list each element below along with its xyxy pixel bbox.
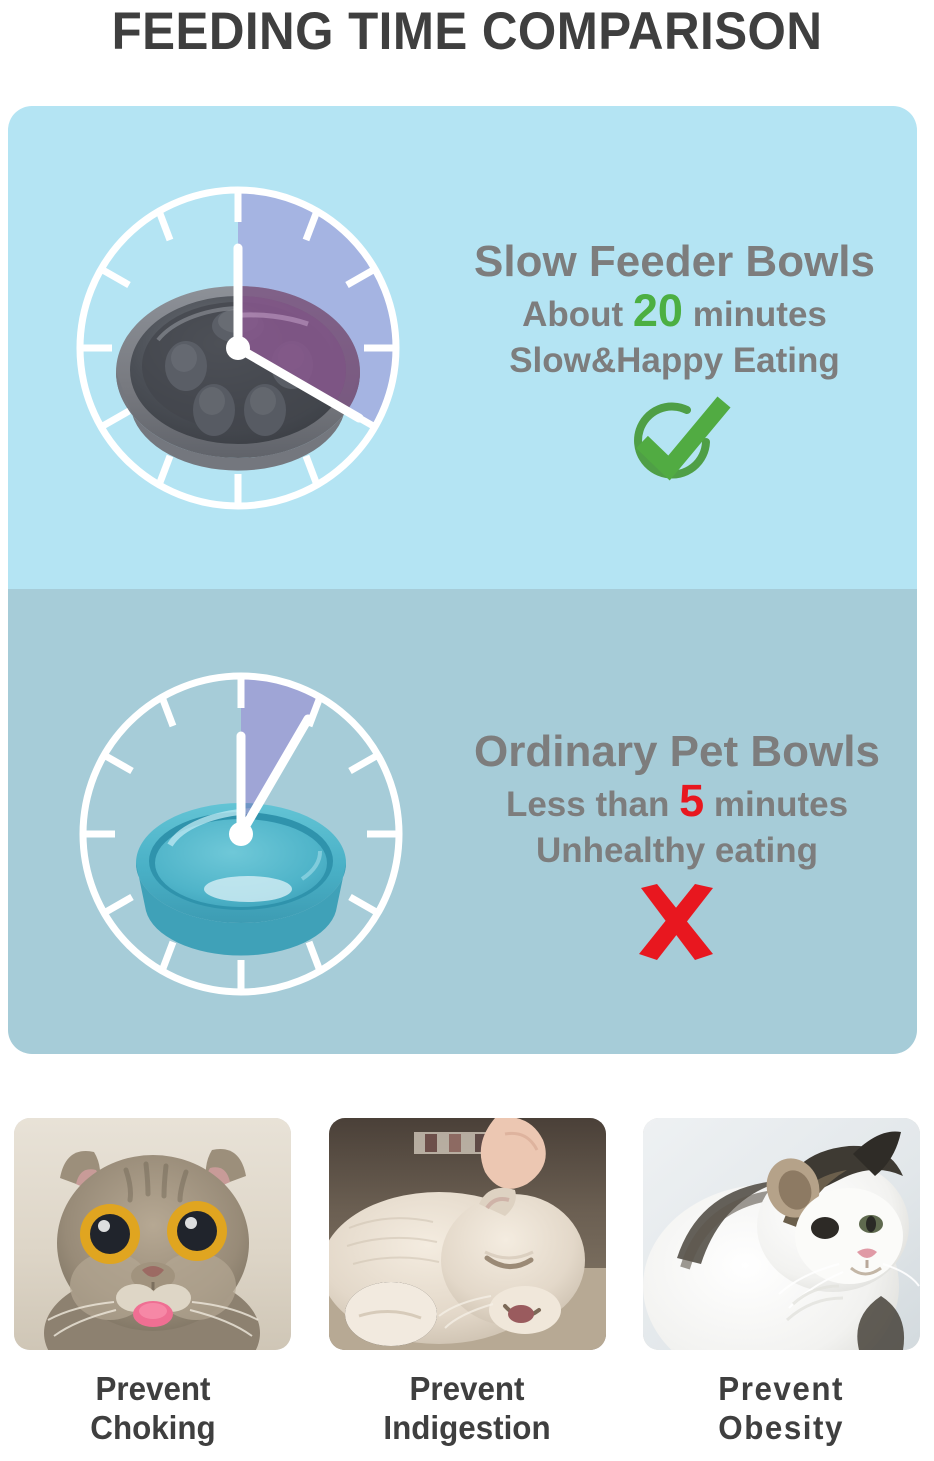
page-title: FEEDING TIME COMPARISON: [33, 2, 902, 62]
cross-mark-wrapper: [437, 880, 917, 977]
clock-slow-feeder: [48, 160, 418, 540]
ordinary-text-block: Ordinary Pet Bowls Less than 5 minutes U…: [437, 726, 917, 977]
ordinary-time-value: 5: [679, 775, 704, 826]
check-mark-icon: [612, 390, 738, 482]
photo-prevent-indigestion: [329, 1118, 606, 1350]
benefit-label-line1: Prevent: [719, 1369, 845, 1408]
photo-prevent-obesity: [643, 1118, 920, 1350]
ordinary-time-line: Less than 5 minutes: [437, 778, 917, 828]
clock-face-ordinary-icon: [52, 645, 430, 1023]
ordinary-time-unit: minutes: [714, 785, 848, 824]
slow-feeder-time-unit: minutes: [693, 295, 827, 334]
obese-cat-image: [643, 1118, 920, 1350]
slow-feeder-text-block: Slow Feeder Bowls About 20 minutes Slow&…: [437, 236, 912, 487]
cat-tongue-out-image: [14, 1118, 291, 1350]
benefit-item: Prevent Indigestion: [325, 1118, 610, 1447]
benefit-label-line2: Choking: [90, 1408, 215, 1447]
benefit-label-line2: Indigestion: [383, 1408, 550, 1447]
benefit-label-line2: Obesity: [719, 1408, 845, 1447]
slow-feeder-description: Slow&Happy Eating: [437, 338, 912, 384]
slow-feeder-time-line: About 20 minutes: [437, 288, 912, 338]
check-mark-wrapper: [437, 390, 912, 487]
cross-mark-icon: [623, 880, 731, 972]
ordinary-description: Unhealthy eating: [437, 828, 917, 874]
benefit-label: Prevent Choking: [90, 1369, 215, 1447]
ordinary-time-prefix: Less than: [506, 785, 669, 824]
clock-face-slow-icon: [48, 160, 418, 540]
slow-feeder-time-prefix: About: [522, 295, 623, 334]
benefit-label-line1: Prevent: [90, 1369, 215, 1408]
benefits-row: Prevent Choking: [0, 1118, 934, 1447]
benefit-label: Prevent Indigestion: [383, 1369, 550, 1447]
benefit-label-line1: Prevent: [383, 1369, 550, 1408]
cat-lying-unwell-image: [329, 1118, 606, 1350]
benefit-item: Prevent Obesity: [639, 1118, 924, 1447]
benefit-label: Prevent Obesity: [719, 1369, 845, 1447]
slow-feeder-headline: Slow Feeder Bowls: [437, 236, 912, 288]
benefit-item: Prevent Choking: [10, 1118, 295, 1447]
slow-feeder-time-value: 20: [633, 285, 683, 336]
clock-ordinary: [52, 645, 430, 1023]
ordinary-headline: Ordinary Pet Bowls: [437, 726, 917, 778]
photo-prevent-choking: [14, 1118, 291, 1350]
